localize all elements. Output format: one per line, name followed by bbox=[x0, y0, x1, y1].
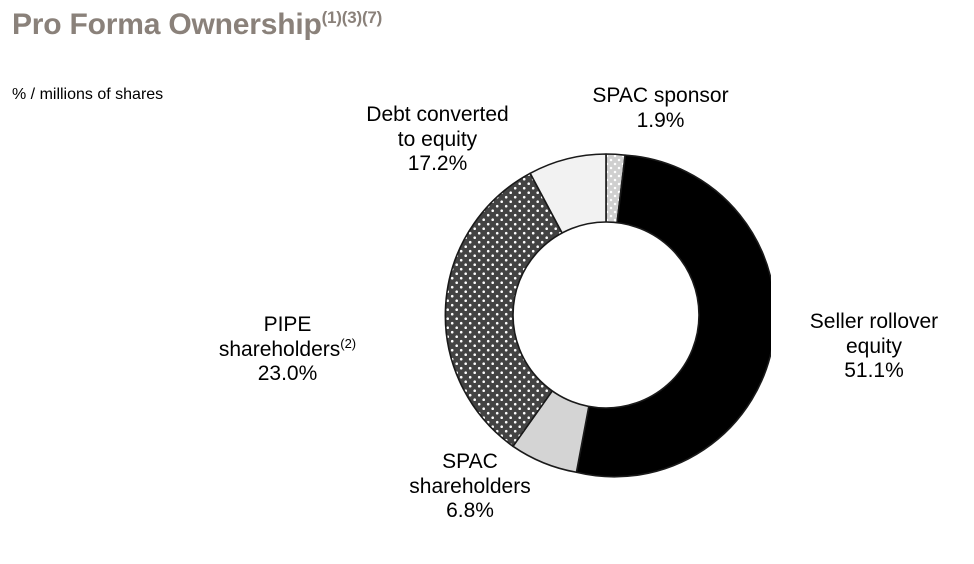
callout-debt-converted-line2: to equity bbox=[330, 128, 545, 153]
donut-chart-svg bbox=[441, 150, 771, 480]
callout-pipe-shareholders-line2-text: shareholders bbox=[219, 338, 340, 361]
callout-spac-shareholders-line1: SPAC bbox=[355, 450, 585, 475]
callout-seller-rollover-equity-line2: equity bbox=[779, 335, 969, 360]
callout-seller-rollover-equity-line1: Seller rollover bbox=[779, 310, 969, 335]
callout-pipe-shareholders-line2: shareholders(2) bbox=[175, 338, 400, 363]
donut-chart: Debt converted to equity 17.2% SPAC spon… bbox=[0, 0, 974, 564]
callout-seller-rollover-equity-value: 51.1% bbox=[779, 359, 969, 384]
callout-pipe-shareholders-line1: PIPE bbox=[175, 313, 400, 338]
callout-pipe-shareholders-footnote-ref: (2) bbox=[340, 336, 356, 351]
callout-debt-converted-value: 17.2% bbox=[330, 152, 545, 177]
donut-hole bbox=[513, 222, 699, 408]
callout-seller-rollover-equity: Seller rollover equity 51.1% bbox=[779, 310, 969, 384]
callout-debt-converted-line1: Debt converted bbox=[330, 103, 545, 128]
callout-pipe-shareholders: PIPE shareholders(2) 23.0% bbox=[175, 313, 400, 387]
callout-spac-sponsor-value: 1.9% bbox=[553, 109, 768, 134]
callout-debt-converted: Debt converted to equity 17.2% bbox=[330, 103, 545, 177]
callout-pipe-shareholders-value: 23.0% bbox=[175, 362, 400, 387]
callout-spac-sponsor-line1: SPAC sponsor bbox=[553, 84, 768, 109]
callout-spac-shareholders-value: 6.8% bbox=[355, 499, 585, 524]
callout-spac-shareholders: SPAC shareholders 6.8% bbox=[355, 450, 585, 524]
callout-spac-shareholders-line2: shareholders bbox=[355, 475, 585, 500]
callout-spac-sponsor: SPAC sponsor 1.9% bbox=[553, 84, 768, 133]
